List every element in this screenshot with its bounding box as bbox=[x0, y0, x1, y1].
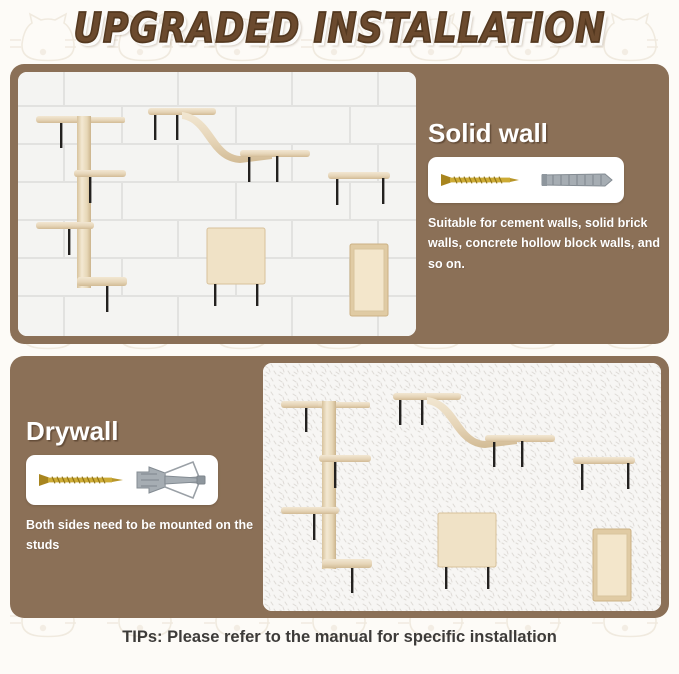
photo-drywall-installation bbox=[263, 363, 661, 611]
solid-wall-info: Solid wall bbox=[428, 118, 668, 274]
photo-solid-wall-installation bbox=[18, 72, 416, 336]
toggle-bolt-anchor-icon bbox=[135, 459, 209, 501]
solid-wall-hardware-card bbox=[428, 157, 624, 203]
stucco-wall-scene bbox=[263, 363, 661, 611]
cat-scratching-pad bbox=[350, 244, 388, 316]
page-title: UPGRADED INSTALLATION bbox=[73, 5, 605, 52]
solid-wall-heading: Solid wall bbox=[428, 118, 668, 149]
wood-screw-icon bbox=[35, 470, 127, 490]
tile-wall-scene bbox=[18, 72, 416, 336]
drywall-description: Both sides need to be mounted on the stu… bbox=[26, 515, 266, 556]
wood-screw-icon bbox=[437, 170, 523, 190]
drywall-info: Drywall bbox=[26, 416, 266, 556]
drywall-heading: Drywall bbox=[26, 416, 266, 447]
panel-drywall: Drywall bbox=[10, 356, 669, 618]
drywall-hardware-card bbox=[26, 455, 218, 505]
tips-footer: TIPs: Please refer to the manual for spe… bbox=[0, 628, 679, 647]
title-bar: UPGRADED INSTALLATION bbox=[0, 0, 679, 58]
cat-scratching-pad bbox=[593, 529, 631, 601]
infographic-page: UPGRADED INSTALLATION bbox=[0, 0, 679, 674]
solid-wall-description: Suitable for cement walls, solid brick w… bbox=[428, 213, 668, 274]
panel-solid-wall: Solid wall bbox=[10, 64, 669, 344]
plastic-wall-anchor-icon bbox=[539, 169, 615, 191]
